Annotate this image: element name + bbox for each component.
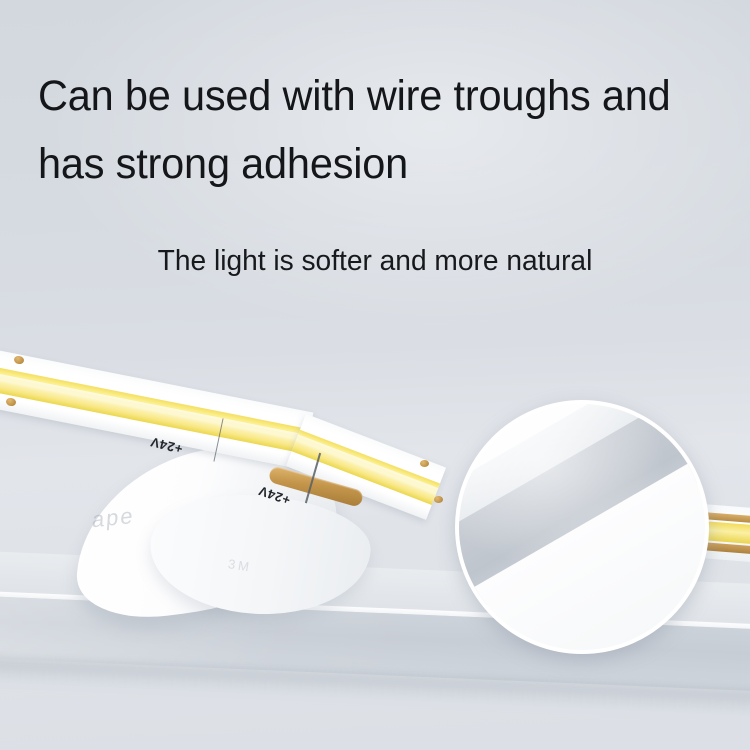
magnifier-gloss (459, 404, 705, 650)
subtitle: The light is softer and more natural (11, 240, 739, 282)
product-marketing-image: Can be used with wire troughs and has st… (0, 0, 750, 750)
page-title: Can be used with wire troughs and has st… (38, 62, 704, 198)
solder-pad (420, 460, 429, 467)
headline-line-2: has strong adhesion (38, 130, 704, 198)
solder-pad (434, 496, 443, 503)
magnifier-callout (455, 400, 709, 654)
strip-segment-upper-left (0, 349, 313, 470)
headline-line-1: Can be used with wire troughs and (38, 72, 671, 120)
product-photo: ape 3M +24V +24V (0, 300, 750, 750)
strip-segment-curve (286, 414, 446, 520)
